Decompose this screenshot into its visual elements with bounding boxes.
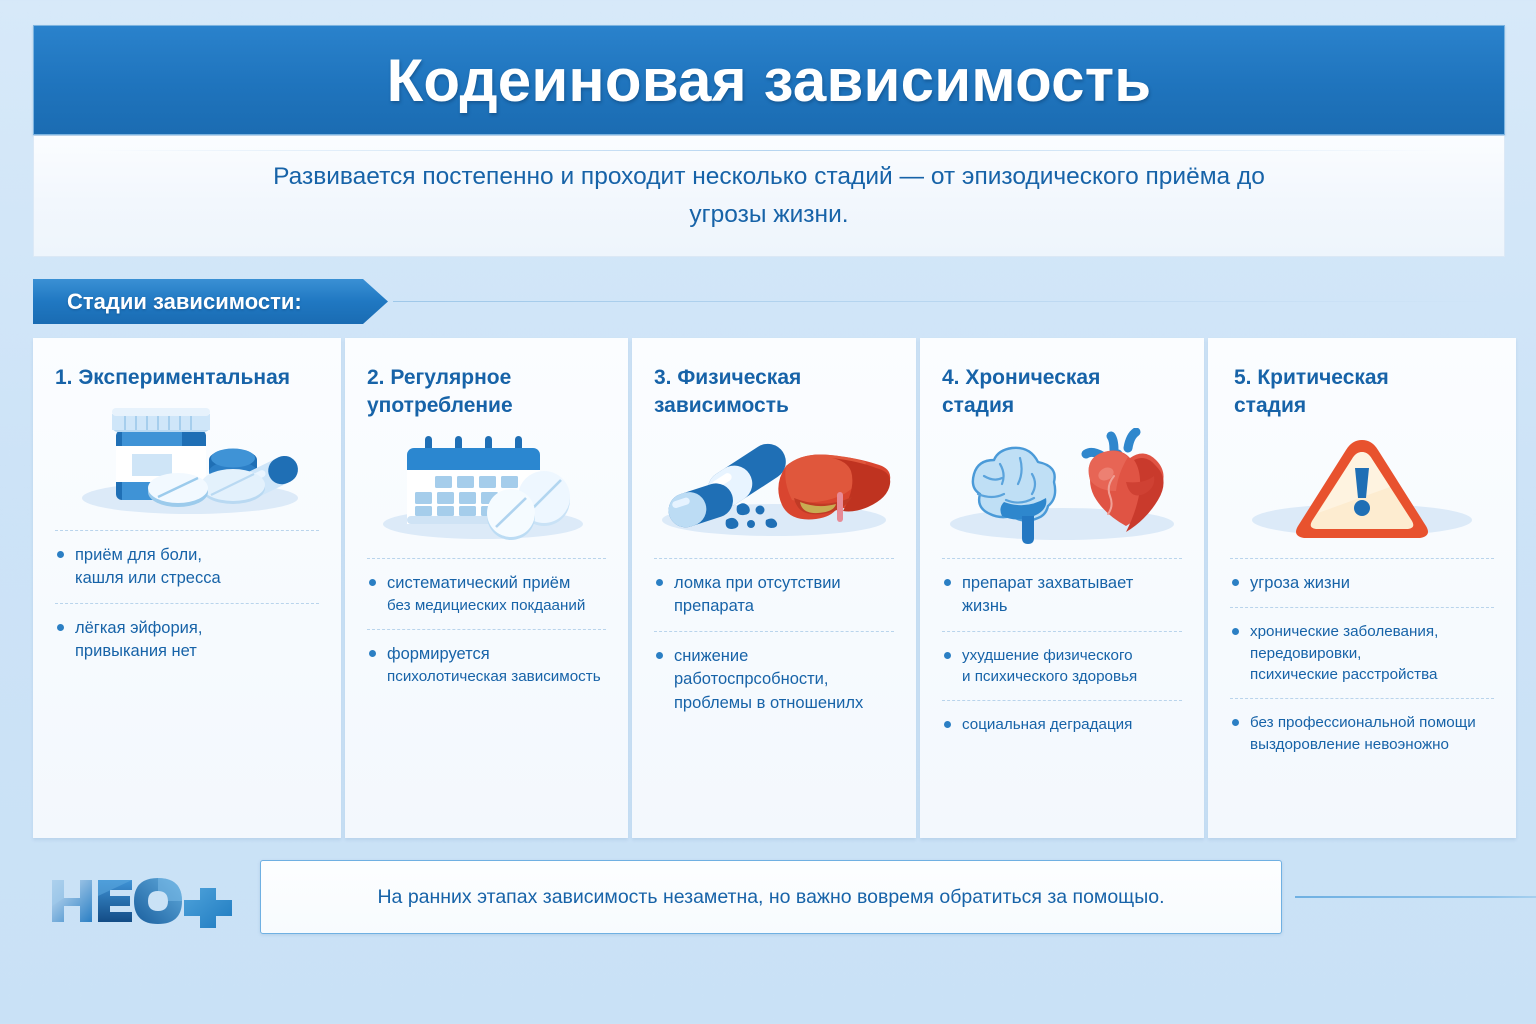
bullet-line: ухудшение физического: [962, 645, 1182, 667]
stage-card-row: 1. Экспериментальная: [33, 338, 1503, 838]
bullet-item: ломка при отсутствии препарата: [654, 558, 894, 631]
stage-card-3-title: 3. Физическая зависимость: [654, 364, 894, 420]
bullet-item: снижение работоспрсобности, проблемы в о…: [654, 631, 894, 727]
bullet-line: лёгкая эйфория,: [75, 617, 319, 640]
bullet-line: и психического здоровья: [962, 666, 1182, 688]
section-tag-row: Стадии зависимости:: [33, 279, 1503, 324]
footer-rule: [1295, 896, 1536, 898]
footer-note: На ранних этапах зависимость незаметна, …: [260, 860, 1282, 934]
bullet-item: формируется психолотическая зависимость: [367, 629, 606, 700]
bullet-line: жизнь: [962, 595, 1182, 618]
neo-plus-logo: [48, 872, 248, 930]
bullet-line: угроза жизни: [1250, 572, 1494, 595]
bullet-item: без профессиональной помощи выздоровлени…: [1230, 698, 1494, 767]
bullet-line: формируется: [387, 643, 606, 666]
warning-triangle-icon: [1230, 428, 1494, 546]
section-tag-label: Стадии зависимости:: [67, 289, 302, 315]
stage-card-5-title: 5. Критическая стадия: [1230, 364, 1494, 420]
page-footer: На ранних этапах зависимость незаметна, …: [33, 852, 1503, 947]
bullet-line: препарат захватывает: [962, 572, 1182, 595]
tag-rule: [393, 301, 1503, 302]
bullet-item: угроза жизни: [1230, 558, 1494, 607]
bullet-line: передовировки,: [1250, 643, 1494, 665]
stage-card-5-bullets: угроза жизни хронические заболевания, пе…: [1230, 558, 1494, 767]
brain-heart-icon: [942, 428, 1182, 546]
stage-card-3-bullets: ломка при отсутствии препарата снижение …: [654, 558, 894, 727]
bullet-item: препарат захватывает жизнь: [942, 558, 1182, 631]
page-header: Кодеиновая зависимость: [33, 25, 1505, 135]
bullet-line: снижение: [674, 645, 894, 668]
intro-text: Развивается постепенно и проходит нескол…: [244, 158, 1294, 234]
bullet-item: лёгкая эйфория, привыкания нет: [55, 603, 319, 676]
footer-note-text: На ранних этапах зависимость незаметна, …: [377, 886, 1164, 909]
intro-panel: Развивается постепенно и проходит нескол…: [33, 136, 1505, 257]
stage-card-2-bullets: систематический приём без медициеских по…: [367, 558, 606, 700]
stage-card-2-title: 2. Регулярное употребление: [367, 364, 606, 420]
page-title: Кодеиновая зависимость: [387, 46, 1152, 115]
stage-card-4-title: 4. Хроническая стадия: [942, 364, 1182, 420]
stage-card-3[interactable]: 3. Физическая зависимость: [632, 338, 916, 838]
bullet-line: хронические заболевания,: [1250, 621, 1494, 643]
stage-card-5[interactable]: 5. Критическая стадия угроза жизни хрони…: [1208, 338, 1516, 838]
stage-card-1-bullets: приём для боли, кашля или стресса лёгкая…: [55, 530, 319, 676]
bullet-line: психолотическая зависимость: [387, 666, 606, 688]
stage-card-4[interactable]: 4. Хроническая стадия: [920, 338, 1204, 838]
bullet-line: препарата: [674, 595, 894, 618]
stage-card-1-title: 1. Экспериментальная: [55, 364, 319, 392]
bullet-line: социальная деградация: [962, 714, 1182, 736]
bullet-item: приём для боли, кашля или стресса: [55, 530, 319, 603]
infographic-page: Кодеиновая зависимость Развивается посте…: [0, 0, 1536, 1024]
bullet-line: ломка при отсутствии: [674, 572, 894, 595]
stage-card-1[interactable]: 1. Экспериментальная: [33, 338, 341, 838]
bullet-line: работоспрсобности,: [674, 668, 894, 691]
capsule-liver-icon: [654, 428, 894, 546]
bullet-item: хронические заболевания, передовировки, …: [1230, 607, 1494, 698]
bullet-line: проблемы в отношенилх: [674, 692, 894, 715]
calendar-pills-icon: [367, 428, 606, 546]
bullet-item: ухудшение физического и психического здо…: [942, 631, 1182, 700]
bullet-line: без медициеских покдааний: [387, 595, 606, 617]
bullet-item: социальная деградация: [942, 700, 1182, 748]
bullet-line: психические расстройства: [1250, 664, 1494, 686]
section-tag: Стадии зависимости:: [33, 279, 388, 324]
stage-card-2[interactable]: 2. Регулярное употребление: [345, 338, 628, 838]
pill-bottle-icon: [55, 400, 319, 518]
stage-card-4-bullets: препарат захватывает жизнь ухудшение физ…: [942, 558, 1182, 748]
bullet-line: приём для боли,: [75, 544, 319, 567]
bullet-line: кашля или стресса: [75, 567, 319, 590]
bullet-line: привыкания нет: [75, 640, 319, 663]
bullet-line: без профессиональной помощи: [1250, 712, 1494, 734]
bullet-item: систематический приём без медициеских по…: [367, 558, 606, 629]
bullet-line: выздоровление невоэножно: [1250, 734, 1494, 756]
bullet-line: систематический приём: [387, 572, 606, 595]
